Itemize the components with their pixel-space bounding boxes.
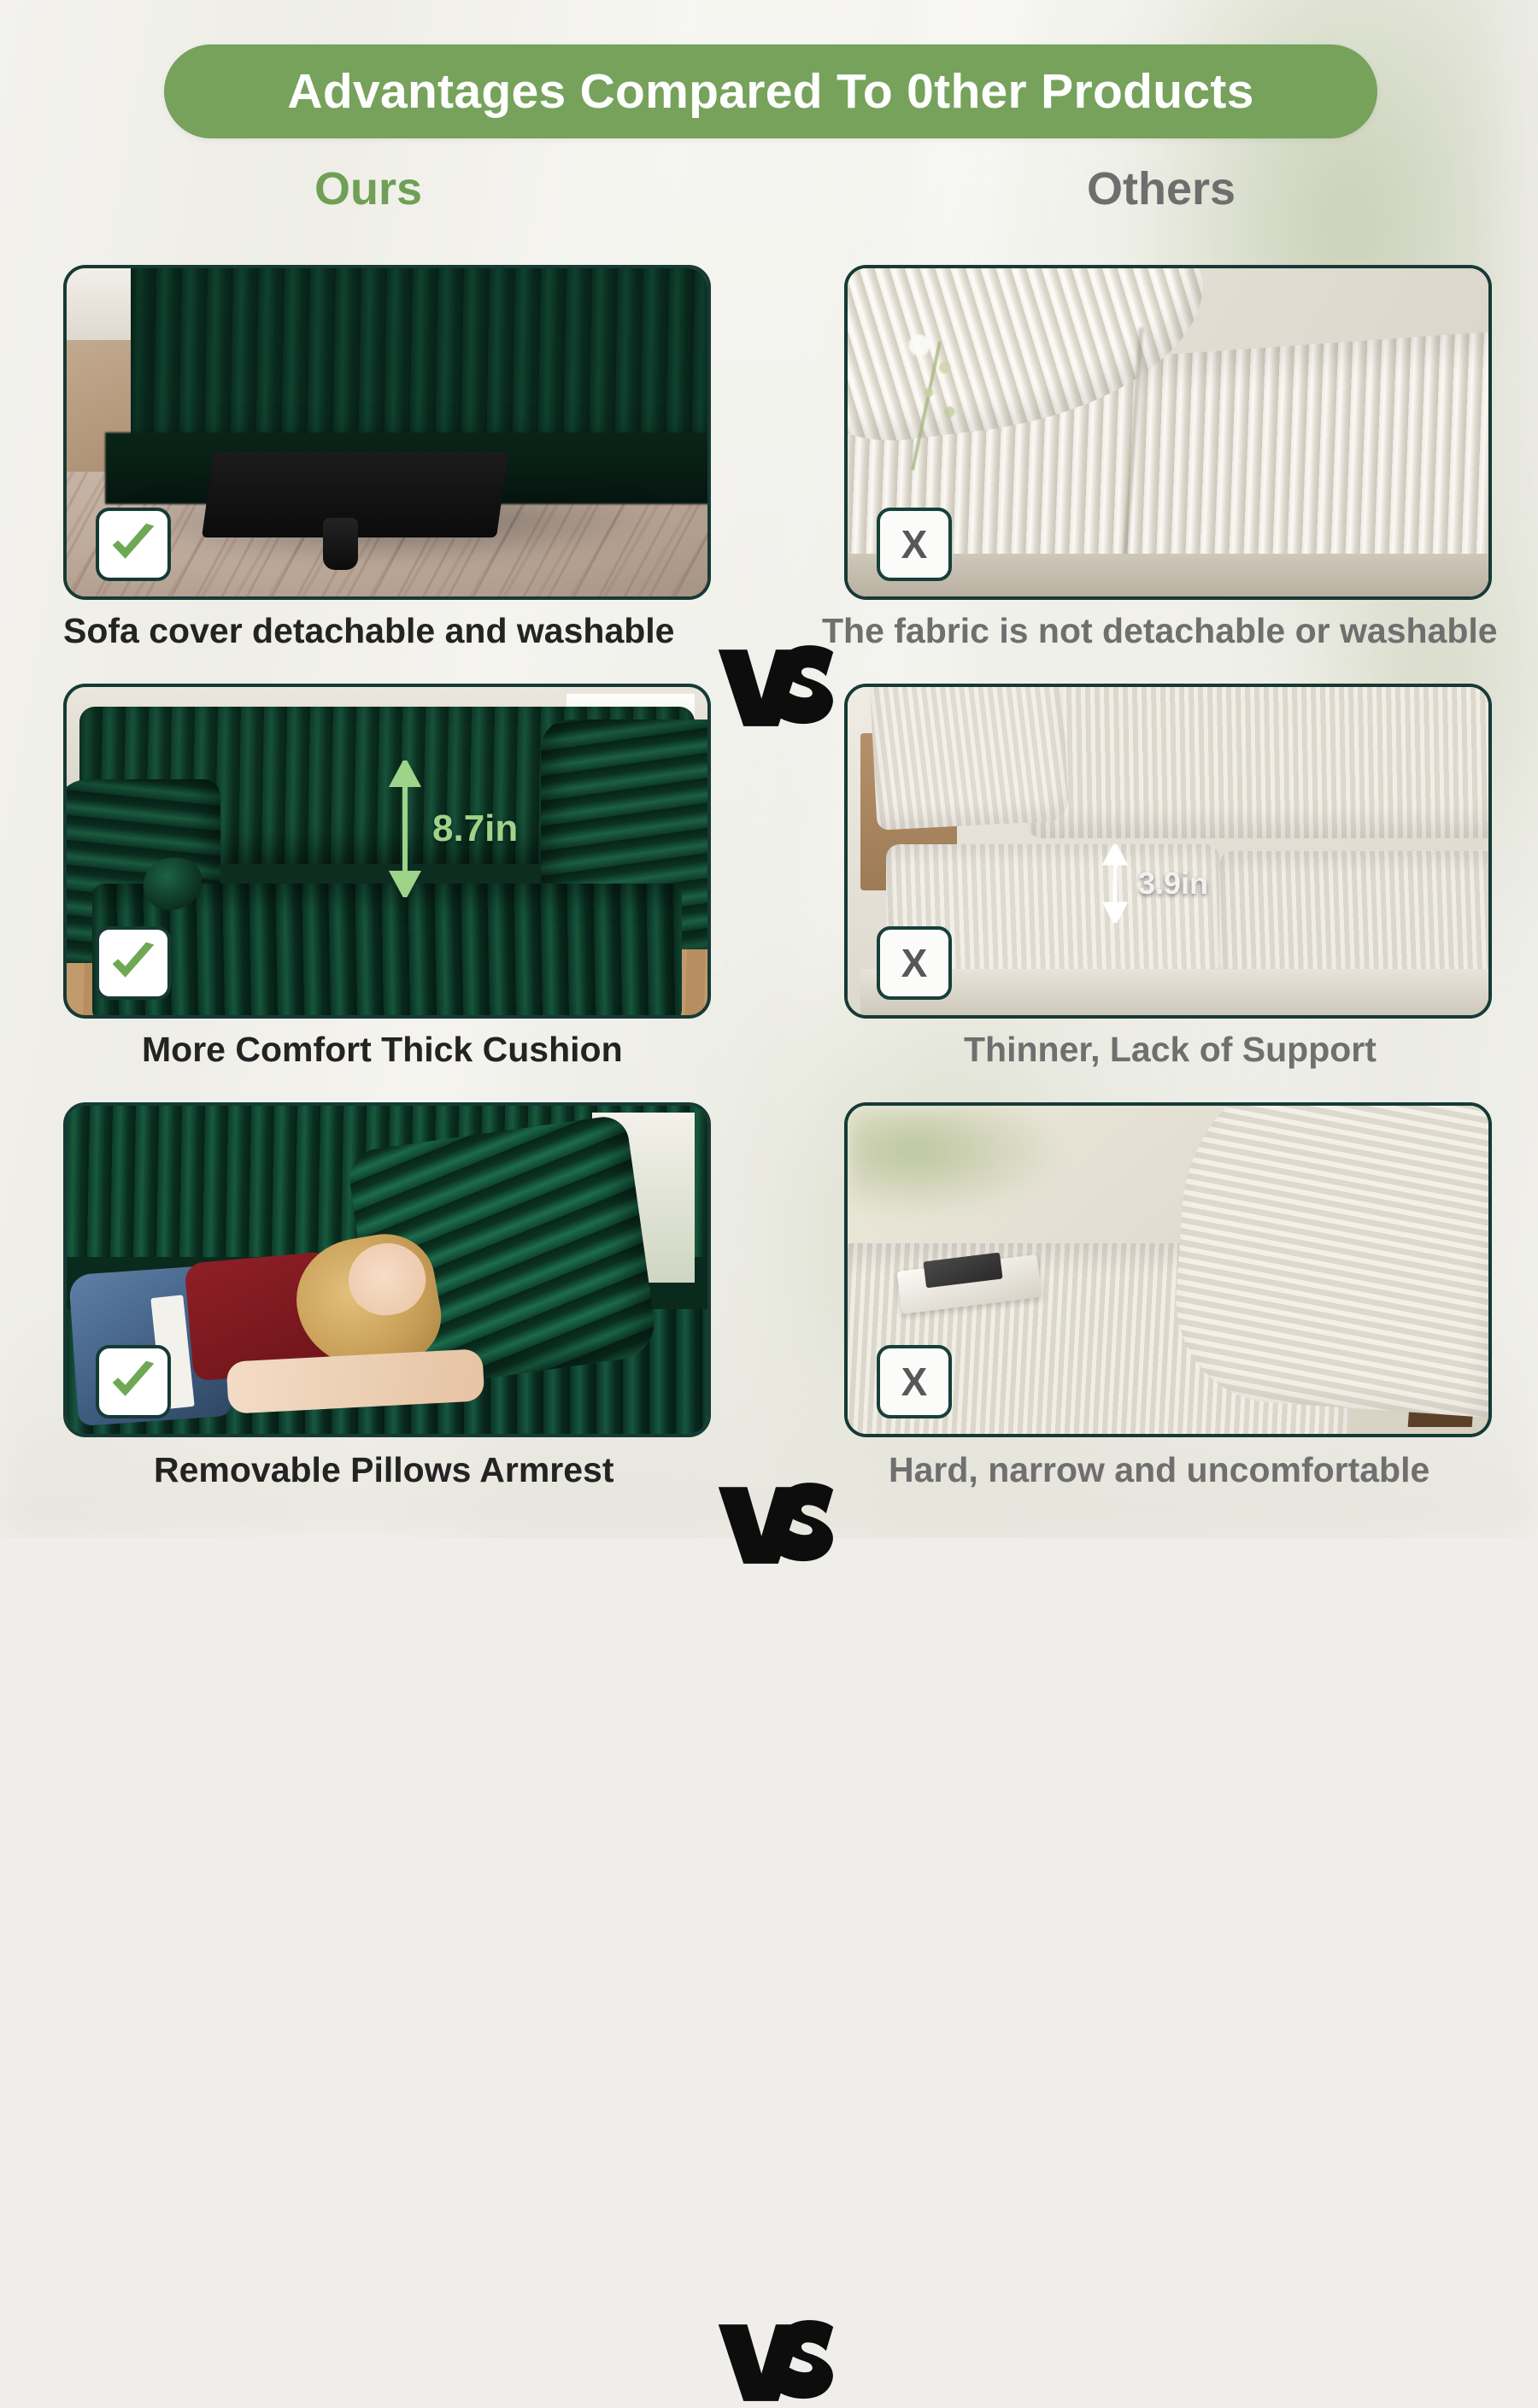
vs-divider-armrest [716,2314,836,2408]
vs-icon [716,1477,836,1571]
title-banner: Advantages Compared To 0ther Products [164,44,1377,138]
vs-icon [716,639,836,733]
column-header-ours: Ours [314,166,422,212]
orchid-flowers [873,320,989,458]
double-arrow-icon [386,761,424,897]
beige-sofa-backrest [1027,684,1492,838]
others-thickness-measure: 3.9in [1101,844,1208,923]
others-image-card-detachable[interactable]: X [844,265,1492,600]
ours-image-card-armrest[interactable] [63,1102,711,1437]
others-caption-cushion: Thinner, Lack of Support [964,1032,1377,1067]
check-icon [108,1356,159,1407]
vs-icon [716,2314,836,2408]
others-image-card-armrest[interactable]: X [844,1102,1492,1437]
vs-divider-cushion [716,1477,836,1571]
ours-image-card-detachable[interactable] [63,265,711,600]
check-badge [96,1345,171,1418]
page-title: Advantages Compared To 0ther Products [287,68,1253,116]
ours-caption-cushion: More Comfort Thick Cushion [142,1032,623,1067]
beige-sofa-skirt [860,969,1492,1015]
sofa-leg [323,518,358,570]
others-caption-detachable: The fabric is not detachable or washable [822,614,1498,649]
check-icon [108,519,159,570]
column-header-others: Others [1087,166,1236,212]
others-caption-armrest: Hard, narrow and uncomfortable [889,1453,1429,1488]
vs-divider-detachable [716,639,836,733]
cross-badge: X [877,926,952,1000]
others-thickness-label: 3.9in [1138,868,1208,899]
ours-thickness-label: 8.7in [432,810,518,848]
ours-caption-armrest: Removable Pillows Armrest [154,1453,614,1488]
x-icon: X [901,525,928,564]
check-badge [96,926,171,1000]
check-badge [96,508,171,581]
ours-thickness-measure: 8.7in [386,761,518,897]
hard-narrow-armrest [1169,1102,1492,1418]
beige-thin-seat-right [1219,851,1492,976]
ours-caption-detachable: Sofa cover detachable and washable [63,614,674,649]
check-icon [108,937,159,989]
x-icon: X [901,943,928,983]
cross-badge: X [877,1345,952,1418]
beige-throw-pillow [870,684,1070,830]
x-icon: X [901,1362,928,1401]
double-arrow-icon [1101,844,1130,923]
cross-badge: X [877,508,952,581]
outdoor-greenery [848,1106,1065,1218]
comparison-infographic: Advantages Compared To 0ther Products Ou… [0,0,1538,1538]
